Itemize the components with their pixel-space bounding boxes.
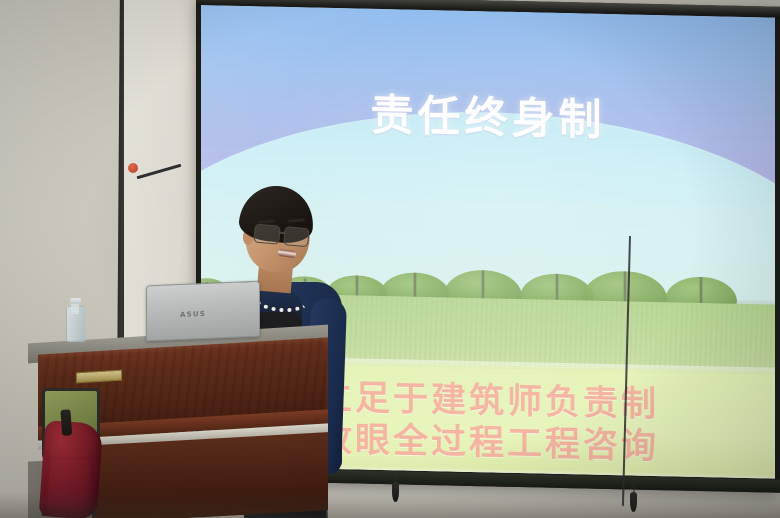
- bottle-cap: [70, 298, 81, 304]
- glasses-right-lens: [283, 226, 310, 247]
- laptop[interactable]: ASUS: [146, 281, 260, 342]
- water-bottle[interactable]: [66, 298, 84, 342]
- microphone-icon: [128, 163, 138, 173]
- bag-strap: [60, 409, 72, 436]
- floor-shadow: [0, 492, 780, 518]
- presentation-photo: 责任终身制 立足于建筑师负责制 放眼全过程工程咨询: [0, 0, 780, 518]
- glasses-icon: [253, 224, 312, 247]
- glasses-left-lens: [253, 224, 281, 245]
- laptop-brand-logo: ASUS: [180, 310, 206, 319]
